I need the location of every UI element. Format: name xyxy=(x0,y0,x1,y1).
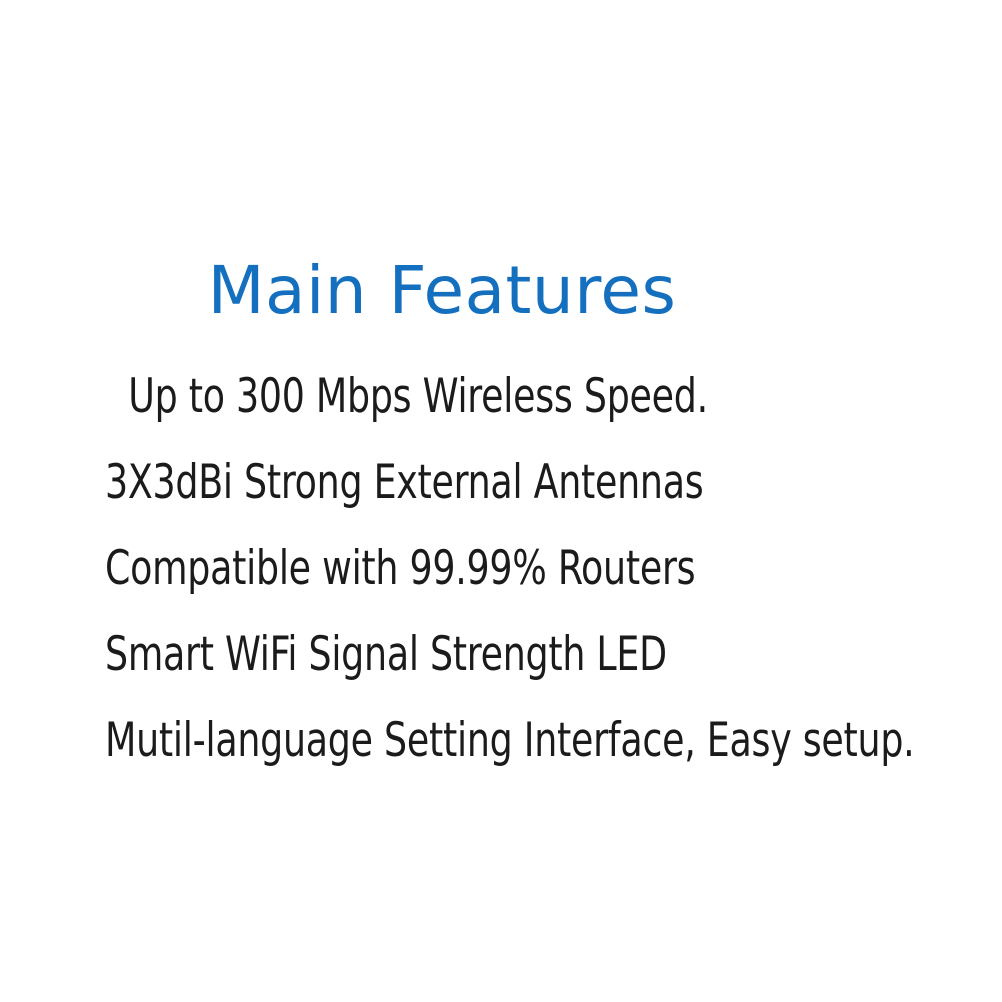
list-item: Mutil-language Setting Interface, Easy s… xyxy=(105,714,853,800)
product-feature-graphic: Main Features Up to 300 Mbps Wireless Sp… xyxy=(0,0,1002,1002)
list-item: Compatible with 99.99% Routers xyxy=(105,542,853,628)
list-item: 3X3dBi Strong External Antennas xyxy=(105,456,853,542)
feature-list: Up to 300 Mbps Wireless Speed. 3X3dBi St… xyxy=(105,370,975,800)
list-item: Up to 300 Mbps Wireless Speed. xyxy=(105,370,853,456)
list-item: Smart WiFi Signal Strength LED xyxy=(105,628,853,714)
page-title: Main Features xyxy=(0,258,884,324)
